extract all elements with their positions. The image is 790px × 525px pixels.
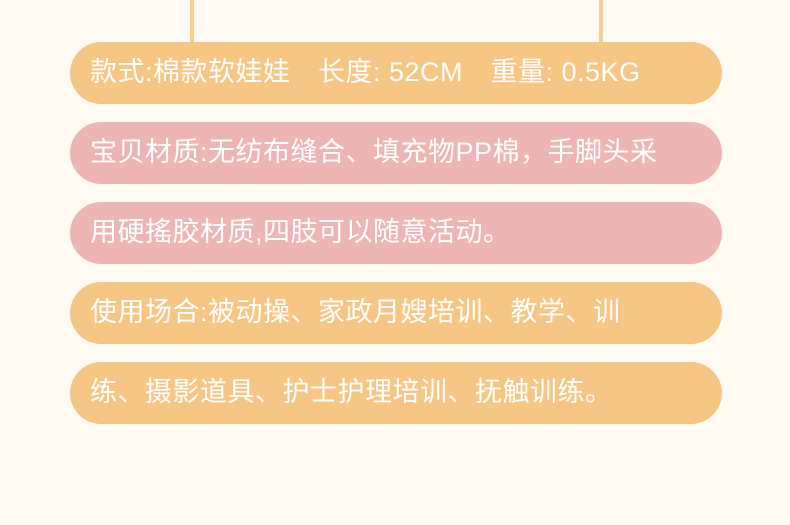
spec-row-text: 用硬搖胶材质,四肢可以随意活动。 xyxy=(90,218,511,248)
spec-row-material-2: 用硬搖胶材质,四肢可以随意活动。 xyxy=(70,202,722,264)
spec-row-text: 练、摄影道具、护士护理培训、抚触训练。 xyxy=(90,378,613,408)
spec-row-material-1: 宝贝材质:无纺布缝合、填充物PP棉，手脚头采 xyxy=(70,122,722,184)
spec-row-usage-2: 练、摄影道具、护士护理培训、抚触训练。 xyxy=(70,362,722,424)
spec-row-usage-1: 使用场合:被动操、家政月嫂培训、教学、训 xyxy=(70,282,722,344)
spec-list: 款式:棉款软娃娃 长度: 52CM 重量: 0.5KG 宝贝材质:无纺布缝合、填… xyxy=(70,42,722,424)
connector-line-left xyxy=(190,0,194,45)
spec-row-text: 款式:棉款软娃娃 长度: 52CM 重量: 0.5KG xyxy=(90,58,641,88)
spec-row-text: 宝贝材质:无纺布缝合、填充物PP棉，手脚头采 xyxy=(90,138,658,168)
connector-line-right xyxy=(599,0,603,45)
spec-row-text: 使用场合:被动操、家政月嫂培训、教学、训 xyxy=(90,298,621,328)
product-spec-panel: 款式:棉款软娃娃 长度: 52CM 重量: 0.5KG 宝贝材质:无纺布缝合、填… xyxy=(0,0,790,525)
spec-row-style: 款式:棉款软娃娃 长度: 52CM 重量: 0.5KG xyxy=(70,42,722,104)
